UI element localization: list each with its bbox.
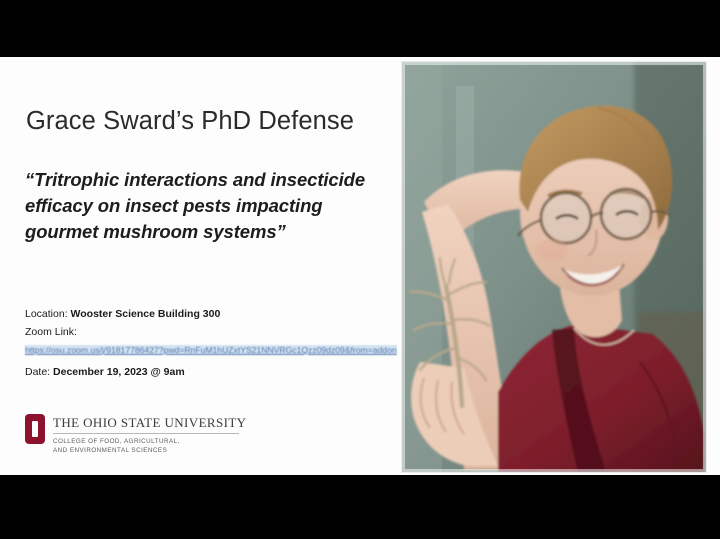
wordmark-divider [53,433,239,434]
location-value: Wooster Science Building 300 [71,308,221,320]
date-label: Date: [25,366,50,378]
speaker-photo [402,62,706,472]
zoom-link-url[interactable]: https://osu.zoom.us/j/91817786427?pwd=Rn… [25,345,397,355]
dissertation-title: “Tritrophic interactions and insecticide… [25,167,385,245]
slide-text-column: Grace Sward’s PhD Defense “Tritrophic in… [23,57,393,475]
date-line: Date: December 19, 2023 @ 9am [25,365,397,380]
video-frame: Grace Sward’s PhD Defense “Tritrophic in… [0,0,720,539]
zoom-link-label: Zoom Link: [25,326,397,340]
letterbox-bar-bottom [0,475,720,539]
osu-block-o-icon [25,414,45,444]
letterbox-bar-top [0,0,720,57]
college-name: COLLEGE OF FOOD, AGRICULTURAL, AND ENVIR… [53,437,246,456]
osu-wordmark: THE OHIO STATE UNIVERSITY COLLEGE OF FOO… [53,413,246,456]
location-line: Location: Wooster Science Building 300 [25,307,397,322]
osu-logo-lockup: THE OHIO STATE UNIVERSITY COLLEGE OF FOO… [25,413,246,456]
date-value: December 19, 2023 @ 9am [53,366,185,378]
page-title: Grace Sward’s PhD Defense [26,107,354,136]
event-details: Location: Wooster Science Building 300 Z… [25,307,397,379]
location-label: Location: [25,308,68,320]
presentation-slide: Grace Sward’s PhD Defense “Tritrophic in… [0,57,720,475]
university-name: THE OHIO STATE UNIVERSITY [53,415,246,431]
